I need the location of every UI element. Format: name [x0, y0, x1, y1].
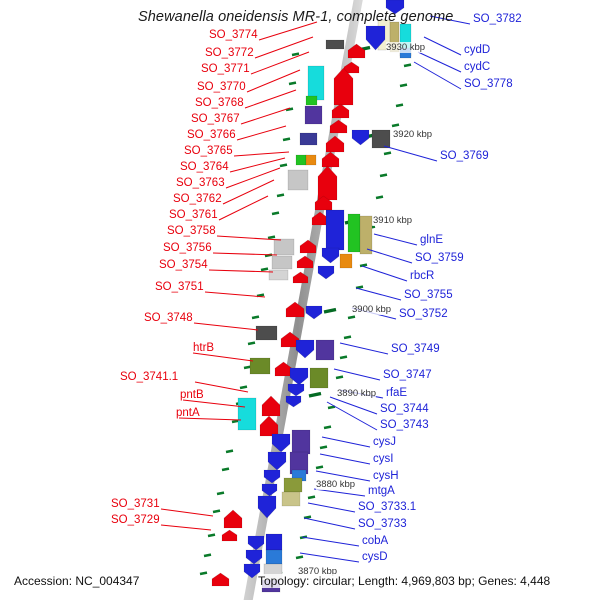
minor-tick	[296, 557, 303, 558]
gene-label-so3747[interactable]: SO_3747	[383, 370, 432, 382]
minor-tick	[248, 343, 255, 344]
gene-feature-forward[interactable]	[260, 416, 278, 436]
gene-feature-forward[interactable]	[272, 256, 292, 269]
gene-label-pntb[interactable]: pntB	[180, 390, 204, 402]
minor-tick	[283, 139, 290, 140]
minor-tick	[308, 497, 315, 498]
gene-feature-forward[interactable]	[250, 358, 270, 374]
gene-feature-forward[interactable]	[322, 152, 339, 167]
gene-feature-reverse[interactable]	[352, 130, 369, 145]
gene-feature-reverse[interactable]	[326, 210, 344, 250]
gene-label-so3770[interactable]: SO_3770	[197, 82, 246, 94]
label-leader-line	[161, 525, 211, 530]
label-leader-line	[219, 196, 268, 220]
gene-label-so3774[interactable]: SO_3774	[209, 30, 258, 42]
minor-tick	[280, 165, 287, 166]
minor-tick	[240, 387, 247, 388]
minor-tick	[272, 213, 279, 214]
label-leader-line	[237, 126, 286, 140]
minor-tick	[289, 83, 296, 84]
gene-feature-forward[interactable]	[222, 530, 237, 541]
minor-tick	[324, 427, 331, 428]
gene-label-coba[interactable]: cobA	[362, 536, 388, 548]
label-leader-line	[304, 518, 355, 529]
gene-feature-reverse[interactable]	[340, 254, 352, 268]
gene-label-so3782[interactable]: SO_3782	[473, 14, 522, 26]
minor-tick	[340, 357, 347, 358]
gene-label-so3778[interactable]: SO_3778	[464, 79, 513, 91]
ruler-tick-label: 3910 kbp	[373, 215, 412, 226]
gene-feature-forward[interactable]	[305, 106, 322, 124]
gene-label-so3752[interactable]: SO_3752	[399, 309, 448, 321]
minor-tick	[376, 197, 383, 198]
label-leader-line	[418, 52, 461, 72]
gene-feature-forward[interactable]	[300, 133, 317, 145]
gene-feature-forward[interactable]	[318, 166, 337, 200]
label-leader-line	[327, 402, 377, 430]
gene-label-cydc[interactable]: cydC	[464, 62, 490, 74]
minor-tick	[257, 295, 264, 296]
label-leader-line	[362, 266, 407, 281]
minor-tick	[360, 265, 367, 266]
label-leader-line	[247, 70, 300, 92]
label-leader-line	[322, 437, 370, 447]
label-leader-line	[194, 323, 258, 330]
minor-tick	[292, 54, 299, 55]
minor-tick	[392, 125, 399, 126]
minor-tick	[316, 467, 323, 468]
minor-tick	[213, 511, 220, 512]
gene-label-mtga[interactable]: mtgA	[368, 486, 395, 498]
gene-feature-forward[interactable]	[224, 510, 242, 528]
gene-label-so3771[interactable]: SO_3771	[201, 64, 250, 76]
gene-feature-forward[interactable]	[288, 170, 308, 190]
label-leader-line	[251, 52, 309, 74]
label-leader-line	[374, 234, 417, 245]
gene-label-htrb[interactable]: htrB	[193, 343, 214, 355]
gene-feature-forward[interactable]	[212, 573, 229, 586]
gene-label-so3767[interactable]: SO_3767	[191, 114, 240, 126]
minor-tick	[348, 317, 355, 318]
gene-label-so3754[interactable]: SO_3754	[159, 260, 208, 272]
gene-feature-reverse[interactable]	[372, 130, 390, 148]
gene-feature-reverse[interactable]	[348, 214, 360, 252]
label-leader-line	[424, 37, 461, 55]
minor-tick	[404, 65, 411, 66]
accession-status: Accession: NC_004347	[14, 574, 139, 588]
gene-feature-reverse[interactable]	[360, 216, 372, 254]
label-leader-line	[356, 288, 401, 300]
minor-tick	[380, 175, 387, 176]
gene-label-so3751[interactable]: SO_3751	[155, 282, 204, 294]
gene-label-so3749[interactable]: SO_3749	[391, 344, 440, 356]
minor-tick	[208, 535, 215, 536]
gene-label-so3763[interactable]: SO_3763	[176, 178, 225, 190]
minor-tick	[252, 317, 259, 318]
label-leader-line	[213, 253, 277, 255]
gene-label-rfae[interactable]: rfaE	[386, 388, 407, 400]
gene-feature-reverse[interactable]	[292, 430, 310, 454]
gene-label-so3731[interactable]: SO_3731	[111, 499, 160, 511]
gene-label-so3768[interactable]: SO_3768	[195, 98, 244, 110]
minor-tick	[328, 407, 335, 408]
gene-feature-reverse[interactable]	[318, 266, 334, 279]
gene-label-pnta[interactable]: pntA	[176, 408, 200, 420]
label-leader-line	[223, 180, 274, 204]
gene-feature-forward[interactable]	[238, 398, 256, 430]
major-tick	[309, 394, 321, 397]
label-leader-line	[384, 146, 437, 161]
label-leader-line	[161, 509, 213, 516]
gene-label-so3756[interactable]: SO_3756	[163, 243, 212, 255]
gene-label-cysj[interactable]: cysJ	[373, 437, 396, 449]
label-leader-line	[205, 292, 265, 297]
gene-feature-reverse[interactable]	[306, 306, 322, 319]
minor-tick	[336, 377, 343, 378]
label-leader-line	[308, 503, 355, 512]
gene-label-so3733[interactable]: SO_3733	[358, 519, 407, 531]
minor-tick	[344, 337, 351, 338]
gene-label-glne[interactable]: glnE	[420, 235, 443, 247]
gene-feature-forward[interactable]	[326, 40, 344, 49]
gene-feature-forward[interactable]	[256, 326, 277, 340]
label-leader-line	[334, 369, 380, 380]
topology-status: Topology: circular; Length: 4,969,803 bp…	[258, 574, 550, 588]
gene-label-so3758[interactable]: SO_3758	[167, 226, 216, 238]
minor-tick	[320, 447, 327, 448]
label-leader-line	[320, 454, 370, 464]
gene-label-cysi[interactable]: cysI	[373, 454, 393, 466]
ruler-tick-label: 3890 kbp	[337, 388, 376, 399]
gene-feature-reverse[interactable]	[296, 340, 314, 358]
gene-label-cysd[interactable]: cysD	[362, 552, 388, 564]
label-leader-line	[245, 90, 296, 108]
gene-label-so3729[interactable]: SO_3729	[111, 515, 160, 527]
minor-tick	[400, 85, 407, 86]
gene-feature-reverse[interactable]	[322, 248, 339, 263]
label-leader-line	[314, 489, 365, 496]
gene-feature-reverse[interactable]	[266, 550, 282, 564]
gene-label-so3744[interactable]: SO_3744	[380, 404, 429, 416]
gene-label-cysh[interactable]: cysH	[373, 471, 399, 483]
label-leader-line	[241, 108, 290, 124]
minor-tick	[396, 105, 403, 106]
gene-label-so3748[interactable]: SO_3748	[144, 313, 193, 325]
ruler-tick-label: 3920 kbp	[393, 129, 432, 140]
label-leader-line	[414, 62, 461, 89]
minor-tick	[277, 195, 284, 196]
gene-label-so3755[interactable]: SO_3755	[404, 290, 453, 302]
page-title: Shewanella oneidensis MR-1, complete gen…	[138, 9, 453, 25]
minor-tick	[217, 493, 224, 494]
label-leader-line	[302, 537, 359, 546]
gene-feature-forward[interactable]	[308, 66, 324, 100]
gene-label-so3765[interactable]: SO_3765	[184, 146, 233, 158]
gene-label-so3772[interactable]: SO_3772	[205, 48, 254, 60]
gene-feature-forward[interactable]	[296, 155, 306, 165]
gene-label-so3766[interactable]: SO_3766	[187, 130, 236, 142]
label-leader-line	[255, 37, 313, 58]
gene-feature-reverse[interactable]	[284, 478, 302, 492]
label-leader-line	[300, 553, 359, 562]
gene-feature-forward[interactable]	[334, 68, 353, 105]
gene-label-cydd[interactable]: cydD	[464, 45, 490, 57]
gene-label-rbcr[interactable]: rbcR	[410, 271, 434, 283]
minor-tick	[261, 269, 268, 270]
gene-label-so3769[interactable]: SO_3769	[440, 151, 489, 163]
minor-tick	[200, 573, 207, 574]
gene-feature-forward[interactable]	[306, 96, 317, 105]
minor-tick	[204, 555, 211, 556]
gene-label-so3764[interactable]: SO_3764	[180, 162, 229, 174]
label-leader-line	[230, 158, 285, 172]
major-tick	[324, 310, 336, 313]
genome-map-viewer[interactable]: Shewanella oneidensis MR-1, complete gen…	[0, 0, 600, 600]
gene-feature-reverse[interactable]	[282, 492, 300, 506]
minor-tick	[268, 237, 275, 238]
gene-feature-reverse[interactable]	[266, 534, 282, 550]
gene-label-so3743[interactable]: SO_3743	[380, 420, 429, 432]
gene-label-so3733.1[interactable]: SO_3733.1	[358, 502, 416, 514]
label-leader-line	[330, 397, 377, 414]
label-leader-line	[340, 343, 388, 354]
gene-feature-reverse[interactable]	[310, 368, 328, 388]
ruler-tick-label: 3930 kbp	[386, 42, 425, 53]
ruler-tick-label: 3880 kbp	[316, 479, 355, 490]
gene-label-so3741.1[interactable]: SO_3741.1	[120, 372, 178, 384]
gene-feature-reverse[interactable]	[290, 368, 308, 385]
minor-tick	[384, 153, 391, 154]
ruler-tick-label: 3900 kbp	[352, 304, 391, 315]
gene-label-so3762[interactable]: SO_3762	[173, 194, 222, 206]
gene-label-so3759[interactable]: SO_3759	[415, 253, 464, 265]
label-leader-line	[234, 152, 289, 156]
gene-feature-forward[interactable]	[306, 155, 316, 165]
minor-tick	[222, 469, 229, 470]
gene-feature-reverse[interactable]	[316, 340, 334, 360]
gene-feature-forward[interactable]	[274, 239, 294, 255]
gene-feature-forward[interactable]	[262, 396, 280, 416]
gene-label-so3761[interactable]: SO_3761	[169, 210, 218, 222]
label-leader-line	[367, 249, 412, 263]
minor-tick	[226, 451, 233, 452]
